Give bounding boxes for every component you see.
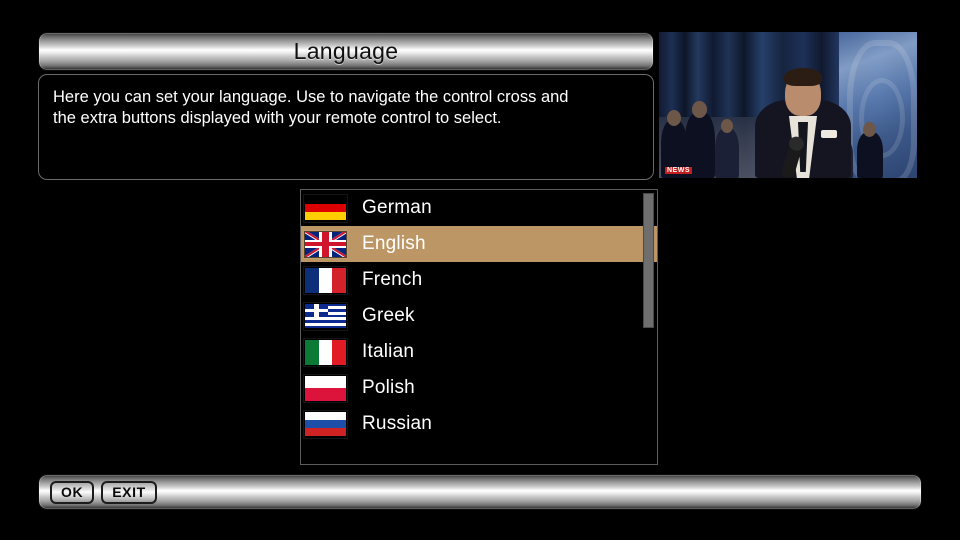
- ok-button[interactable]: OK: [50, 481, 94, 504]
- language-label: Italian: [362, 341, 414, 363]
- channel-logo: NEWS: [665, 167, 692, 174]
- language-row-french[interactable]: French: [301, 262, 657, 298]
- video-reporter: [755, 68, 851, 178]
- channel-logo-text: NEWS: [665, 167, 692, 174]
- language-row-polish[interactable]: Polish: [301, 370, 657, 406]
- flag-de-icon: [304, 195, 347, 222]
- description-panel: Here you can set your language. Use to n…: [38, 74, 654, 180]
- bottom-action-bar: OKEXIT: [38, 474, 922, 510]
- flag-ru-icon: [304, 411, 347, 438]
- language-list[interactable]: GermanEnglishFrenchGreekItalianPolishRus…: [300, 189, 658, 465]
- language-row-greek[interactable]: Greek: [301, 298, 657, 334]
- language-row-german[interactable]: German: [301, 190, 657, 226]
- description-text: Here you can set your language. Use to n…: [53, 87, 639, 129]
- language-label: Polish: [362, 377, 415, 399]
- language-label: French: [362, 269, 422, 291]
- language-row-russian[interactable]: Russian: [301, 406, 657, 442]
- scrollbar-track[interactable]: [643, 192, 654, 464]
- tv-settings-screen: Language Here you can set your language.…: [0, 0, 960, 540]
- exit-button[interactable]: EXIT: [101, 481, 157, 504]
- flag-it-icon: [304, 339, 347, 366]
- language-label: Russian: [362, 413, 432, 435]
- bottom-buttons: OKEXIT: [50, 481, 157, 504]
- page-title: Language: [294, 38, 399, 65]
- title-bar: Language: [38, 32, 654, 71]
- scrollbar-thumb[interactable]: [643, 193, 654, 328]
- video-preview[interactable]: NEWS: [658, 31, 918, 179]
- language-label: Greek: [362, 305, 415, 327]
- flag-gr-icon: [304, 303, 347, 330]
- flag-gb-icon: [304, 231, 347, 258]
- flag-pl-icon: [304, 375, 347, 402]
- language-rows: GermanEnglishFrenchGreekItalianPolishRus…: [301, 190, 657, 442]
- language-label: German: [362, 197, 432, 219]
- language-label: English: [362, 233, 426, 255]
- flag-fr-icon: [304, 267, 347, 294]
- language-row-italian[interactable]: Italian: [301, 334, 657, 370]
- language-row-english[interactable]: English: [301, 226, 657, 262]
